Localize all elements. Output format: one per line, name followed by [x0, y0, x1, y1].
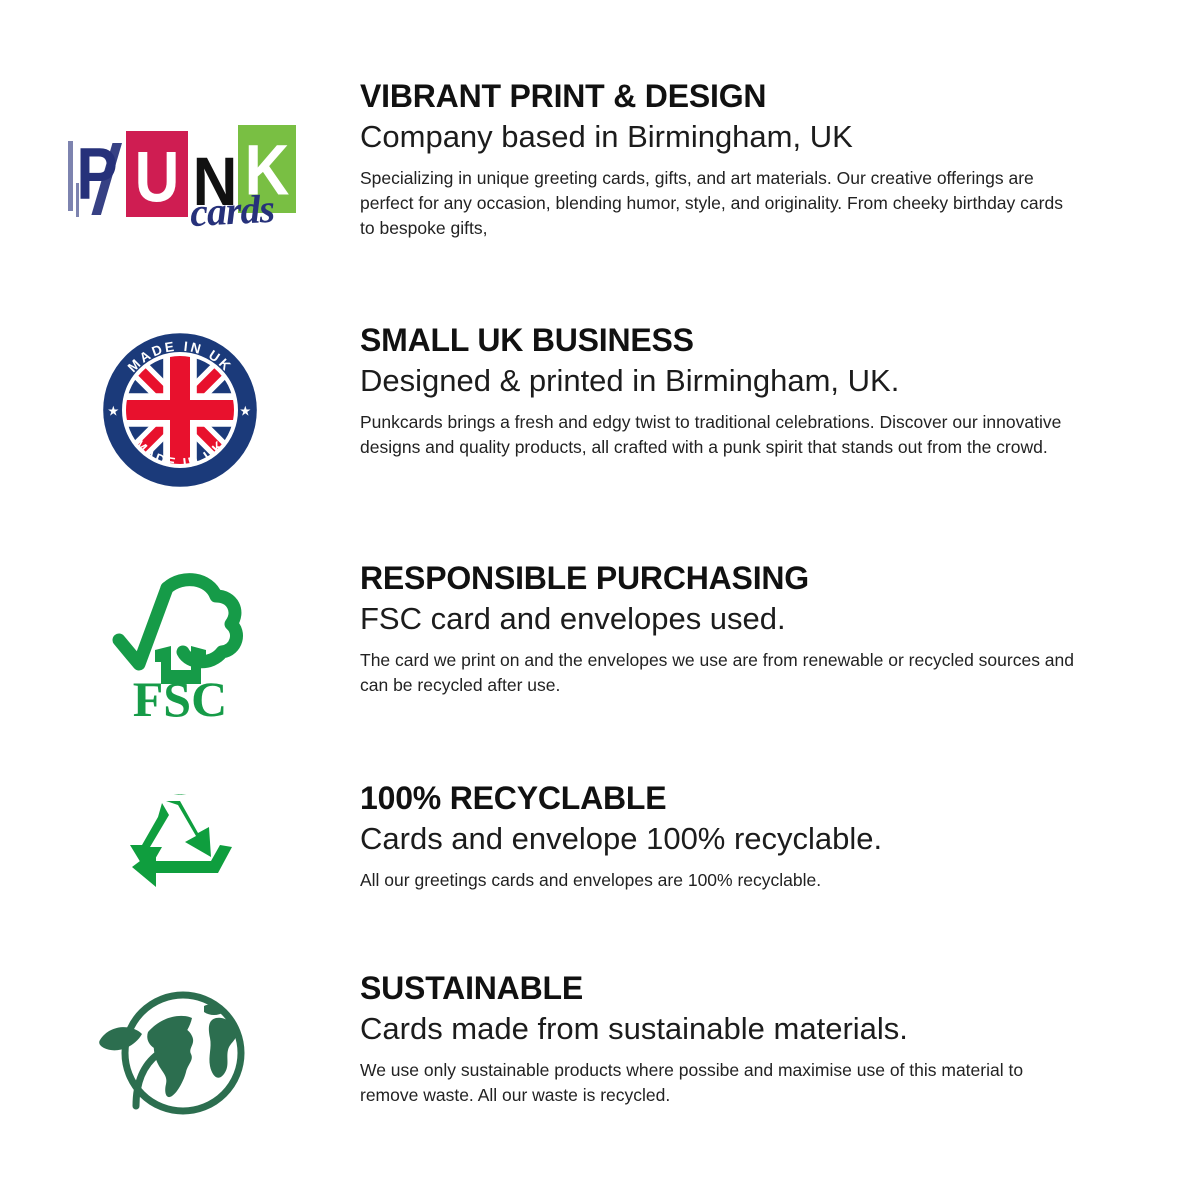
feature-title: RESPONSIBLE PURCHASING: [360, 562, 1100, 596]
feature-body: The card we print on and the envelopes w…: [360, 648, 1080, 698]
feature-title: SUSTAINABLE: [360, 972, 1100, 1006]
feature-list-page: P U N K cards VIBRANT PRINT & DESIGN Com…: [0, 0, 1200, 1200]
feature-icon-cell: MADE IN UK MADE IN UK ★ ★: [0, 322, 360, 495]
made-in-uk-badge-icon: MADE IN UK MADE IN UK ★ ★: [100, 330, 260, 495]
feature-title: 100% RECYCLABLE: [360, 782, 1100, 816]
feature-body: Specializing in unique greeting cards, g…: [360, 166, 1080, 241]
feature-title: SMALL UK BUSINESS: [360, 324, 1100, 358]
punk-letter-u: U: [126, 143, 188, 214]
feature-text-cell: 100% RECYCLABLE Cards and envelope 100% …: [360, 780, 1200, 893]
punkcards-logo: P U N K cards: [68, 123, 300, 227]
badge-star-right: ★: [239, 404, 251, 419]
badge-star-left: ★: [107, 404, 119, 419]
feature-row: 100% RECYCLABLE Cards and envelope 100% …: [0, 780, 1200, 907]
feature-row: P U N K cards VIBRANT PRINT & DESIGN Com…: [0, 78, 1200, 241]
recycling-symbol-icon: [114, 790, 246, 907]
feature-row: MADE IN UK MADE IN UK ★ ★ SMALL UK BUSIN…: [0, 322, 1200, 495]
feature-row: FSC RESPONSIBLE PURCHASING FSC card and …: [0, 560, 1200, 726]
fsc-label: FSC: [133, 671, 227, 721]
feature-icon-cell: [0, 780, 360, 907]
feature-icon-cell: P U N K cards: [0, 78, 360, 227]
feature-icon-cell: FSC: [0, 560, 360, 726]
punk-script-cards: cards: [189, 185, 275, 236]
feature-subtitle: Company based in Birmingham, UK: [360, 120, 1100, 155]
feature-icon-cell: [0, 970, 360, 1125]
feature-text-cell: VIBRANT PRINT & DESIGN Company based in …: [360, 78, 1200, 241]
feature-row: SUSTAINABLE Cards made from sustainable …: [0, 970, 1200, 1125]
feature-subtitle: FSC card and envelopes used.: [360, 602, 1100, 637]
globe-plant-icon: [88, 980, 263, 1125]
feature-text-cell: SUSTAINABLE Cards made from sustainable …: [360, 970, 1200, 1108]
feature-subtitle: Designed & printed in Birmingham, UK.: [360, 364, 1100, 399]
feature-body: Punkcards brings a fresh and edgy twist …: [360, 410, 1080, 460]
feature-title: VIBRANT PRINT & DESIGN: [360, 80, 1100, 114]
feature-body: We use only sustainable products where p…: [360, 1058, 1080, 1108]
feature-text-cell: SMALL UK BUSINESS Designed & printed in …: [360, 322, 1200, 460]
feature-body: All our greetings cards and envelopes ar…: [360, 868, 1080, 893]
feature-subtitle: Cards and envelope 100% recyclable.: [360, 822, 1100, 857]
feature-subtitle: Cards made from sustainable materials.: [360, 1012, 1100, 1047]
fsc-logo-icon: FSC: [105, 566, 255, 726]
feature-text-cell: RESPONSIBLE PURCHASING FSC card and enve…: [360, 560, 1200, 698]
